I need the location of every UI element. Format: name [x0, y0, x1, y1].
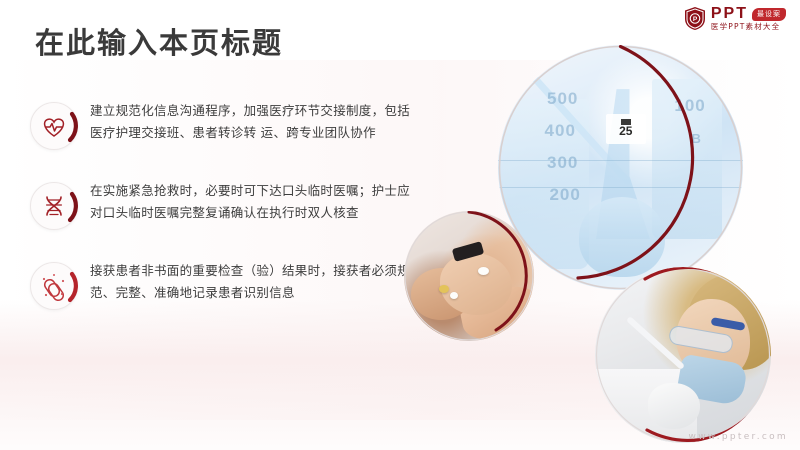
scientist-image [595, 267, 771, 443]
logo-top-row: PPT 最设案 [711, 6, 786, 22]
list-item: 在实施紧急抢救时，必要时可下达口头临时医嘱；护士应对口头临时医嘱完整复诵确认在执… [30, 180, 410, 230]
bullet-icon-1 [30, 102, 78, 150]
heart-ecg-icon [30, 102, 78, 150]
logo-text-block: PPT 最设案 医学PPT素材大全 [711, 6, 786, 31]
hands-with-pills-photo [404, 211, 534, 341]
hands-image [404, 211, 534, 341]
bullet-icon-3 [30, 262, 78, 310]
volume-mark: 100 [674, 96, 705, 116]
glove-shape [648, 383, 700, 429]
bottle-label: 25 [606, 114, 646, 144]
pill-shape [478, 267, 489, 275]
bacteria-icon [30, 262, 78, 310]
label-number: 25 [619, 125, 632, 138]
flask-bulb-shape [579, 197, 665, 277]
list-item: 接获患者非书面的重要检查（验）结果时，接获者必须规范、完整、准确地记录患者识别信… [30, 260, 410, 310]
pill-shape [450, 292, 458, 299]
bullet-text-3: 接获患者非书面的重要检查（验）结果时，接获者必须规范、完整、准确地记录患者识别信… [90, 260, 410, 304]
volume-mark: 200 [549, 185, 580, 205]
logo-badge: 最设案 [752, 8, 786, 21]
lab-scientist-photo [595, 267, 771, 443]
logo-brand-text: PPT [711, 6, 748, 22]
logo-subtitle: 医学PPT素材大全 [711, 23, 786, 31]
watermark-text: www.ppter.com [689, 432, 788, 442]
bullet-text-1: 建立规范化信息沟通程序，加强医疗环节交接制度，包括医疗护理交接班、患者转诊转 运… [90, 100, 410, 144]
palm-shape-right [440, 253, 512, 315]
volume-mark: 500 [547, 89, 578, 109]
bullet-list: 建立规范化信息沟通程序，加强医疗环节交接制度，包括医疗护理交接班、患者转诊转 运… [30, 100, 410, 340]
lab-glassware-photo: 500 400 300 200 100 B 25 [498, 45, 743, 290]
brand-logo[interactable]: P PPT 最设案 医学PPT素材大全 [684, 6, 786, 31]
list-item: 建立规范化信息沟通程序，加强医疗环节交接制度，包括医疗护理交接班、患者转诊转 运… [30, 100, 410, 150]
volume-mark: 400 [545, 121, 576, 141]
volume-mark: B [692, 131, 702, 146]
dna-helix-icon [30, 182, 78, 230]
shield-icon: P [684, 6, 706, 31]
svg-text:P: P [693, 16, 698, 23]
volume-mark: 300 [547, 153, 578, 173]
bullet-icon-2 [30, 182, 78, 230]
bullet-text-2: 在实施紧急抢救时，必要时可下达口头临时医嘱；护士应对口头临时医嘱完整复诵确认在执… [90, 180, 410, 224]
lab-glassware-image: 500 400 300 200 100 B 25 [498, 45, 743, 290]
slide-canvas: P PPT 最设案 医学PPT素材大全 在此输入本页标题 建立规范化信息沟通程序… [0, 0, 800, 450]
page-title: 在此输入本页标题 [35, 20, 283, 62]
